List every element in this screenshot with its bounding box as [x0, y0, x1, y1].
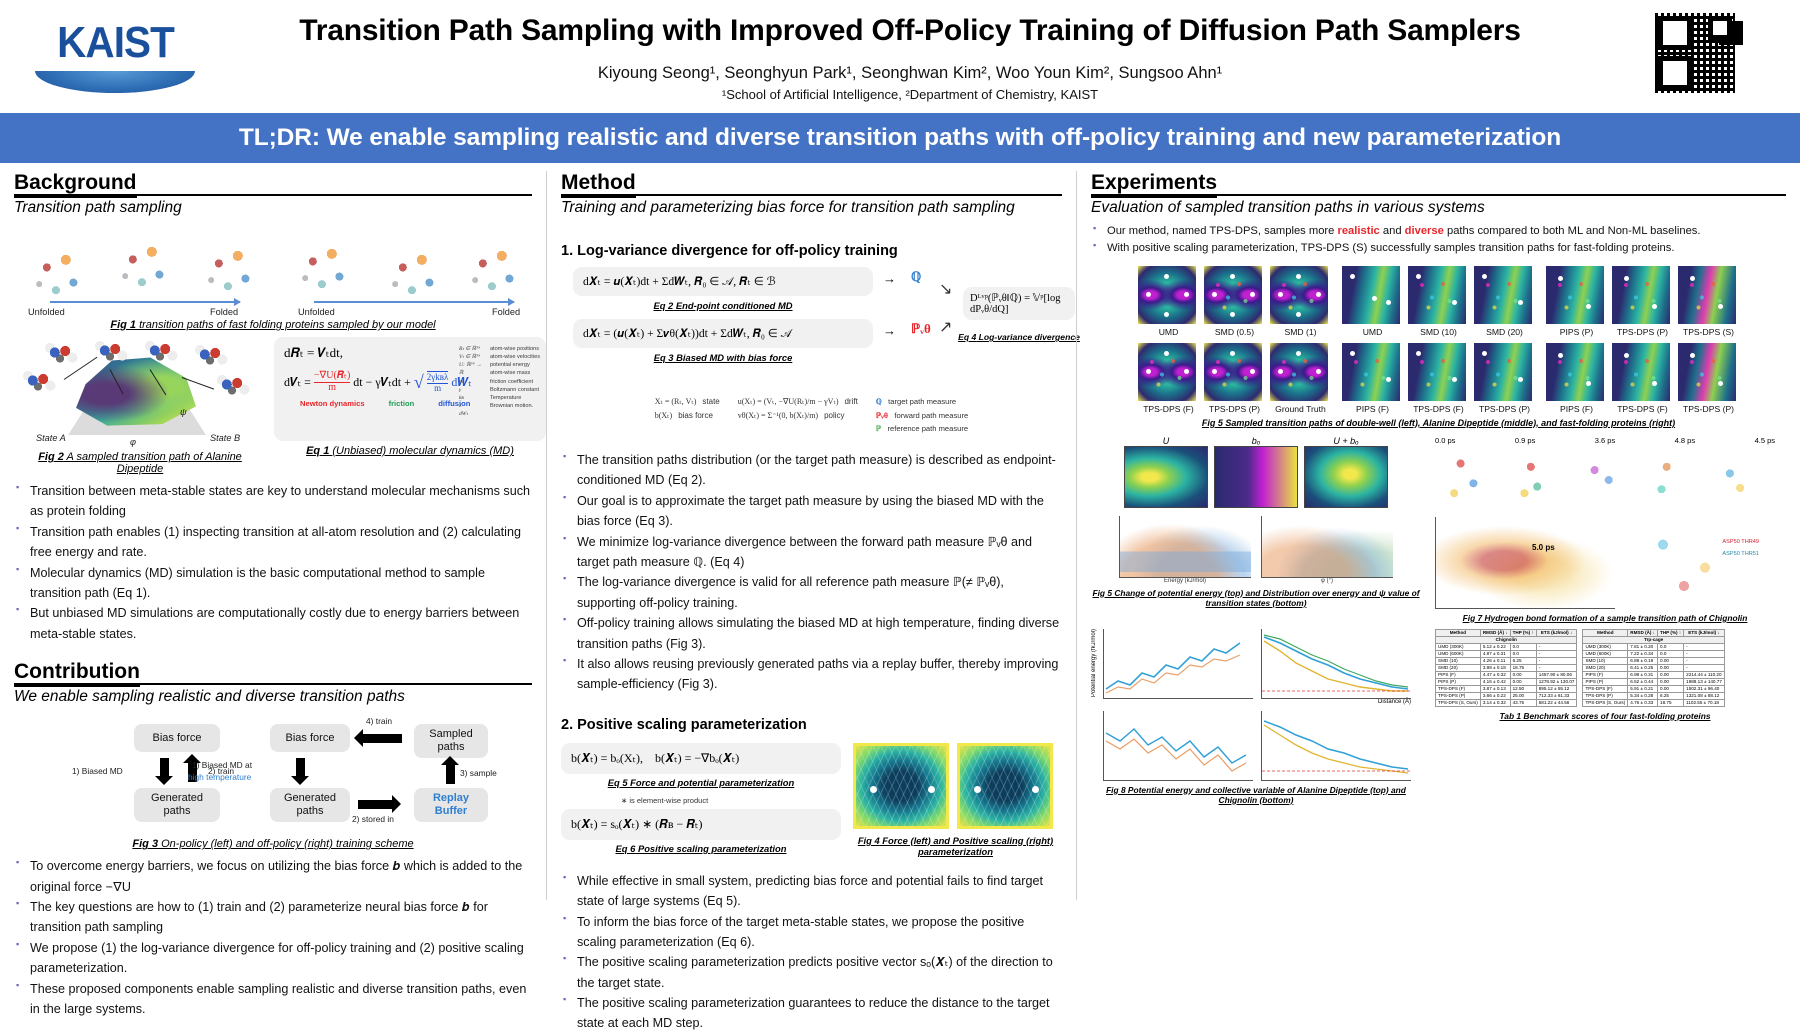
tile-label: PIPS (F) — [1342, 404, 1404, 414]
cell: TPS-DPS (F) — [1583, 685, 1628, 692]
cell: SMD (20) — [1436, 664, 1481, 671]
cell: 4.87 ± 0.31 — [1480, 650, 1510, 657]
cell: TPS-DPS (S, Ours) — [1583, 699, 1628, 706]
protein-structure — [1569, 447, 1633, 513]
tile-cell: TPS-DPS (P) — [1612, 266, 1674, 337]
equations-5-6-wrap: b(𝑿ₜ) = bₒ(Xₜ), b(𝑿ₜ) = −∇bₒ(𝑿ₜ) Eq 5 Fo… — [561, 743, 841, 857]
tile-row-2: TPS-DPS (F) TPS-DPS (P) Ground Truth — [1138, 343, 1332, 414]
timestamp-label: 0.9 ps — [1515, 436, 1535, 445]
figure-6-histograms: Energy (kJ/mol) φ (°) — [1091, 516, 1421, 584]
panel-U-plus-b: U + bₒ — [1304, 436, 1388, 508]
section-heading-contribution: Contribution — [14, 660, 140, 687]
poster-header: KAIST Transition Path Sampling with Impr… — [0, 0, 1800, 113]
legend-symbol: λ — [459, 402, 485, 410]
equation-2-box: d𝑿ₜ = 𝒖(𝑿ₜ)dt + Σd𝑾ₜ, 𝑹₀ ∈ 𝒜, 𝑹ₜ ∈ ℬ — [573, 267, 873, 296]
fig4-caption-text: Force (left) and Positive scaling (right… — [880, 835, 1053, 857]
histogram-energy: Energy (kJ/mol) — [1119, 516, 1251, 584]
notation-row: Xₜ = (Rₜ, Vₜ) state — [655, 395, 720, 409]
table-group-label: Trp-cage — [1583, 636, 1724, 643]
tab1-caption-bold: Tab 1 — [1500, 711, 1522, 721]
section-subtitle-method: Training and parameterizing bias force f… — [561, 199, 1062, 217]
logo-swoosh-icon — [35, 71, 195, 93]
arrow-head-up — [441, 756, 459, 765]
cell: 4.76 ± 0.33 — [1628, 699, 1658, 706]
cell: 7.22 ± 0.34 — [1628, 650, 1658, 657]
notation-row: vθ(Xₜ) = Σ⁻¹(0, b(Xₜ)/m) policy — [738, 409, 858, 423]
eq4-caption-text: Log-variance divergence — [976, 332, 1080, 342]
tile-cell: TPS-DPS (P) — [1678, 343, 1740, 414]
tile-cell: SMD (0.5) — [1204, 266, 1266, 337]
density-plot — [1119, 516, 1251, 578]
node-replay-buffer: Replay Buffer — [414, 788, 488, 822]
cell: TPS-DPS (P) — [1583, 692, 1628, 699]
legend-symbol: m — [459, 378, 485, 386]
eq1-label-newton: Newton dynamics — [300, 399, 365, 408]
cell: 6.25 — [1658, 692, 1684, 699]
eq1-denominator: m — [314, 383, 350, 394]
figure-7-structures — [1435, 447, 1775, 513]
tile-label: SMD (20) — [1474, 327, 1536, 337]
method-subsection-2-heading: 2. Positive scaling parameterization — [561, 717, 1062, 733]
legend-desc: Temperature — [490, 394, 540, 402]
notation-group-measures: ℚ target path measure ℙᵥθ forward path m… — [876, 395, 968, 436]
table-row: UMD (600K)7.22 ± 0.340.0- — [1583, 650, 1724, 657]
eq1-fraction: −∇U(𝑹ₜ) m — [314, 371, 350, 393]
list-item: Our method, named TPS-DPS, samples more … — [1091, 223, 1786, 240]
unfolded-folded-arrow — [314, 301, 514, 303]
double-well-plot — [1270, 343, 1328, 401]
figure-5-tile-grid: UMD SMD (0.5) SMD (1) TPS-DPS (F) TPS-DP… — [1091, 266, 1786, 414]
fig8-caption-bold: Fig 8 — [1106, 785, 1126, 795]
tile-cell: TPS-DPS (P) — [1204, 343, 1266, 414]
tile-label: TPS-DPS (P) — [1612, 327, 1674, 337]
notation-row: u(Xₜ) = (Vₜ, −∇U(Rₜ)/m − γVₜ) drift — [738, 395, 858, 409]
fig1-label-unfolded: Unfolded — [298, 307, 335, 317]
notation-symbol: b(Xₜ) — [655, 411, 672, 420]
arrow-down-right — [296, 758, 305, 778]
protein-path-plot — [1612, 343, 1670, 401]
cell: - — [1684, 650, 1725, 657]
eq5-part-b: b(𝑿ₜ) = −∇bₒ(𝑿ₜ) — [655, 751, 739, 765]
unfolded-folded-arrow — [50, 301, 240, 303]
measure-row: ℙᵥθ forward path measure — [876, 409, 968, 423]
background-section: Background Transition path sampling Unfo… — [14, 171, 532, 644]
cell: 712.33 ± 61.33 — [1536, 692, 1577, 699]
table-row: UMD (600K)4.87 ± 0.310.0- — [1436, 650, 1577, 657]
dipeptide-molecule — [42, 339, 82, 369]
eq1-numerator: −∇U(𝑹ₜ) — [314, 371, 350, 383]
qr-code-icon[interactable] — [1652, 10, 1738, 96]
tile-row-1: UMD SMD (0.5) SMD (1) — [1138, 266, 1332, 337]
tile-label: TPS-DPS (P) — [1204, 404, 1266, 414]
legend-label: ASP50 THR51 — [1722, 551, 1759, 557]
notation-desc: bias force — [678, 411, 713, 420]
cell: SMD (10) — [1583, 657, 1628, 664]
measure-symbol: ℙᵥθ — [876, 411, 888, 420]
cell: 6.41 ± 0.25 — [1628, 664, 1658, 671]
notation-group-drift: u(Xₜ) = (Vₜ, −∇U(Rₜ)/m − γVₜ) drift vθ(X… — [738, 395, 858, 436]
eq3-caption-text: Biased MD with bias force — [674, 352, 793, 363]
flow-label-biased-md-left: 1) Biased MD — [72, 766, 123, 776]
contact-density-map: 5.0 ps — [1435, 517, 1615, 609]
cell: - — [1536, 664, 1577, 671]
ramachandran-plot — [1342, 343, 1400, 401]
cell: 5.34 ± 0.28 — [1628, 692, 1658, 699]
table-row: TPS-DPS (S, Ours)3.14 ± 0.3243.75581.22 … — [1436, 699, 1577, 706]
cell: - — [1684, 664, 1725, 671]
fig1-label-unfolded: Unfolded — [28, 307, 65, 317]
eq1-label-friction: friction — [389, 399, 415, 408]
logo-text: KAIST — [57, 21, 174, 65]
eq1-caption-text: (Unbiased) molecular dynamics (MD) — [329, 445, 514, 457]
cell: 0.00 — [1510, 678, 1536, 685]
annotation-time: 5.0 ps — [1532, 543, 1555, 552]
cell: PIPS (F) — [1583, 671, 1628, 678]
notation-symbol: vθ(Xₜ) = Σ⁻¹(0, b(Xₜ)/m) — [738, 411, 818, 420]
double-well-plot — [1138, 343, 1196, 401]
cell: 7.81 ± 0.20 — [1628, 643, 1658, 650]
contribution-section: Contribution We enable sampling realisti… — [14, 660, 532, 1019]
equation-5-caption: Eq 5 Force and potential parameterizatio… — [561, 777, 841, 788]
fig7-caption-bold: Fig 7 — [1463, 613, 1483, 623]
cell: SMD (20) — [1583, 664, 1628, 671]
arrow-to-measure-p: → — [883, 323, 896, 339]
tile-row-2: PIPS (F) TPS-DPS (F) TPS-DPS (P) — [1342, 343, 1536, 414]
figure-8-top-charts: Potential energy (fkJ/mol) — [1091, 629, 1421, 705]
tile-cell: UMD — [1138, 266, 1200, 337]
eq1-sqrt-fraction: 2γkʙλ m — [427, 371, 449, 393]
cell: 0.0 — [1510, 643, 1536, 650]
cell: 0.00 — [1510, 671, 1536, 678]
cell: 0.00 — [1658, 685, 1684, 692]
method-bullets-1: The transition paths distribution (or th… — [561, 450, 1062, 695]
tile-row-1: UMD SMD (10) SMD (20) — [1342, 266, 1536, 337]
kaist-logo: KAIST — [0, 0, 230, 100]
eq1-caption-bold: Eq 1 — [306, 445, 329, 457]
cell: 1988.13 ± 140.77 — [1684, 678, 1725, 685]
cell: 18.75 — [1658, 699, 1684, 706]
eq3-caption-bold: Eq 3 — [654, 352, 674, 363]
flow-label-biased-md-right: 1) Biased MD at — [192, 760, 252, 770]
panel-label: bₒ — [1214, 436, 1298, 446]
panel-U: U — [1124, 436, 1208, 508]
notation-desc: policy — [824, 411, 844, 420]
cell: 5.91 ± 0.21 — [1628, 685, 1658, 692]
eq1-legend-symbols: Rₜ ∈ ℝ³ᴺ Vₜ ∈ ℝ³ᴺ U: ℝ³ᴺ → ℝ m γ kʙ λ dW… — [459, 345, 485, 418]
tile-cell: TPS-DPS (F) — [1408, 343, 1470, 414]
cell: UMD (300K) — [1583, 643, 1628, 650]
cell: 3.87 ± 0.13 — [1480, 685, 1510, 692]
cell: TPS-DPS (F) — [1436, 685, 1481, 692]
density-plot — [1261, 516, 1393, 578]
dipeptide-molecule — [20, 367, 60, 397]
authors-line: Kiyoung Seong¹, Seonghyun Park¹, Seonghw… — [230, 64, 1590, 83]
eq1-sqrt-denominator: m — [427, 384, 449, 393]
cell: 18.75 — [1510, 664, 1536, 671]
tile-cell: SMD (1) — [1270, 266, 1332, 337]
figure-5-double-well-group: UMD SMD (0.5) SMD (1) TPS-DPS (F) TPS-DP… — [1138, 266, 1332, 414]
table-row: SMD (20)6.41 ± 0.250.00- — [1583, 664, 1724, 671]
tile-label: TPS-DPS (P) — [1678, 404, 1740, 414]
figure-3-caption-text: On-policy (left) and off-policy (right) … — [158, 838, 414, 850]
figure-4-panels — [853, 743, 1058, 829]
section-heading-experiments: Experiments — [1091, 171, 1217, 198]
double-well-plot — [1270, 266, 1328, 324]
dipeptide-molecule — [142, 337, 182, 367]
table-row: TPS-DPS (S, Ours)4.76 ± 0.3318.751102.55… — [1583, 699, 1724, 706]
experiments-bullets: Our method, named TPS-DPS, samples more … — [1091, 223, 1786, 258]
dipeptide-molecule — [92, 337, 132, 367]
cell: 6.25 — [1510, 657, 1536, 664]
table-row: PIPS (F)6.98 ± 0.310.002214.44 ± 110.20 — [1583, 671, 1724, 678]
cell: 2214.44 ± 110.20 — [1684, 671, 1725, 678]
tile-label: SMD (0.5) — [1204, 327, 1266, 337]
figure-7-timestamps: 0.0 ps 0.9 ps 3.6 ps 4.8 ps 4.5 ps — [1435, 436, 1775, 445]
eq5-caption-text: Force and potential parameterization — [628, 777, 795, 788]
figure-8-caption: Fig 8 Potential energy and collective va… — [1091, 785, 1421, 805]
method-bullets-2: While effective in small system, predict… — [561, 871, 1062, 1034]
fig4-caption-bold: Fig 4 — [858, 835, 880, 846]
eq4-caption-bold: Eq 4 — [958, 332, 976, 342]
line-chart — [1261, 629, 1411, 699]
cell: 6.52 ± 0.44 — [1628, 678, 1658, 685]
eq1-lhs: d𝑽ₜ = — [284, 375, 311, 390]
table-row: TPS-DPS (F)3.87 ± 0.1312.50895.12 ± 55.1… — [1436, 685, 1577, 692]
list-item: While effective in small system, predict… — [561, 871, 1062, 912]
benchmark-table-chignolin: Method RMSD (Å) ↓ THP (%) ↑ ETS (kJ/mol)… — [1435, 629, 1577, 707]
panel-label: U — [1124, 436, 1208, 446]
line-chart-chignolin-energy — [1103, 711, 1253, 781]
table-body: UMD (300K)7.81 ± 0.200.0- UMD (600K)7.22… — [1583, 643, 1724, 706]
cell: 1102.55 ± 70.18 — [1684, 699, 1725, 706]
section-heading-background: Background — [14, 171, 137, 198]
cell: 3.14 ± 0.32 — [1480, 699, 1510, 706]
figure-7-contact-map-row: 5.0 ps ASP50 THR49 ASP50 THR51 — [1435, 517, 1775, 609]
cell: 12.50 — [1510, 685, 1536, 692]
table-row: TPS-DPS (P)5.34 ± 0.286.251321.08 ± 88.1… — [1583, 692, 1724, 699]
tile-label: Ground Truth — [1270, 404, 1332, 414]
figure-1-protein-paths: Unfolded Folded Unfolded Folded — [14, 223, 532, 315]
protein-structure — [1502, 447, 1566, 513]
cell: 6.98 ± 0.31 — [1628, 671, 1658, 678]
tile-cell: SMD (10) — [1408, 266, 1470, 337]
list-item: But unbiased MD simulations are computat… — [14, 603, 532, 644]
cell: 0.00 — [1658, 664, 1684, 671]
tile-cell: PIPS (F) — [1342, 343, 1404, 414]
equation-5-box: b(𝑿ₜ) = bₒ(Xₜ), b(𝑿ₜ) = −∇bₒ(𝑿ₜ) — [561, 743, 841, 774]
protein-molecule — [110, 229, 186, 305]
node-bias-force-left: Bias force — [134, 724, 220, 752]
eq6-note: ∗ is element-wise product — [621, 796, 841, 805]
tile-cell: Ground Truth — [1270, 343, 1332, 414]
eq2-caption-text: End-point conditioned MD — [673, 300, 792, 311]
flow-label-train-right: 4) train — [366, 716, 392, 726]
cell: - — [1684, 657, 1725, 664]
tile-label: UMD — [1342, 327, 1404, 337]
line-series — [1262, 711, 1411, 781]
cell: PIPS (P) — [1436, 678, 1481, 685]
figure-1-caption-bold: Fig 1 — [110, 319, 136, 331]
tile-label: SMD (10) — [1408, 327, 1470, 337]
bullet-mid: and — [1380, 225, 1405, 237]
protein-molecule — [290, 231, 366, 307]
table-header-cell: THP (%) ↑ — [1658, 629, 1684, 636]
tile-cell: PIPS (F) — [1546, 343, 1608, 414]
fig1-label-folded: Folded — [210, 307, 238, 317]
fig1-label-folded: Folded — [492, 307, 520, 317]
section-subtitle-contribution: We enable sampling realistic and diverse… — [14, 688, 532, 706]
measure-row: ℚ target path measure — [876, 395, 968, 409]
legend-desc: potential energy — [490, 361, 540, 369]
equation-4-caption: Eq 4 Log-variance divergence — [957, 332, 1081, 342]
chart-distance-alanine: Distance (Å) — [1261, 629, 1411, 705]
protein-path-plot — [1612, 266, 1670, 324]
figure-2-wrap: State A State B φ ψ Fig 2 A sampled tran… — [14, 337, 266, 475]
figure-3-caption: Fig 3 On-policy (left) and off-policy (r… — [14, 838, 532, 850]
state-marker — [870, 786, 877, 793]
cell: TPS-DPS (S, Ours) — [1436, 699, 1481, 706]
figure-1-caption-text: transition paths of fast folding protein… — [136, 319, 436, 331]
cell: 0.0 — [1658, 650, 1684, 657]
cell: TPS-DPS (P) — [1436, 692, 1481, 699]
line-chart-chignolin-distance — [1261, 711, 1411, 781]
qr-code-wrap[interactable] — [1590, 0, 1800, 96]
measure-q-symbol: ℚ — [911, 269, 921, 285]
bullet-post: paths compared to both ML and Non-ML bas… — [1444, 225, 1701, 237]
equation-1-box: d𝑹ₜ = 𝑽ₜdt, d𝑽ₜ = −∇U(𝑹ₜ) m dt − γ𝑽ₜdt +… — [274, 337, 546, 441]
panel-b-theta: bₒ — [1214, 436, 1298, 508]
table-header-cell: ETS (kJ/mol) ↓ — [1684, 629, 1725, 636]
ramachandran-plot — [1474, 266, 1532, 324]
cell: UMD (300K) — [1436, 643, 1481, 650]
tile-label: TPS-DPS (F) — [1612, 404, 1674, 414]
table-row: SMD (10)4.26 ± 0.116.25- — [1436, 657, 1577, 664]
tile-cell: TPS-DPS (F) — [1138, 343, 1200, 414]
protein-structure-large: ASP50 THR49 ASP50 THR51 — [1621, 517, 1761, 609]
notation-symbol: Xₜ = (Rₜ, Vₜ) — [655, 397, 697, 406]
fig7-caption-text: Hydrogen bond formation of a sample tran… — [1482, 613, 1747, 623]
cell: UMD (600K) — [1436, 650, 1481, 657]
state-marker — [974, 786, 981, 793]
table-body: UMD (300K)5.12 ± 0.220.0- UMD (600K)4.87… — [1436, 643, 1577, 706]
figure-5-protein-group: PIPS (P) TPS-DPS (P) TPS-DPS (S) PIPS (F… — [1546, 266, 1740, 414]
figure-2-alanine-dipeptide: State A State B φ ψ — [14, 337, 266, 449]
fig2-state-a-label: State A — [36, 433, 66, 443]
tile-label: TPS-DPS (F) — [1138, 404, 1200, 414]
double-well-plot — [1204, 266, 1262, 324]
figure-6-panels: U bₒ U + bₒ — [1091, 436, 1421, 508]
list-item: Transition path enables (1) inspecting t… — [14, 522, 532, 563]
table-row: UMD (300K)5.12 ± 0.220.0- — [1436, 643, 1577, 650]
arrow-to-measure-q: → — [883, 271, 896, 287]
legend-desc: Boltzmann constant — [490, 386, 540, 394]
timestamp-label: 3.6 ps — [1595, 436, 1615, 445]
fig8-caption-text: Potential energy and collective variable… — [1126, 785, 1406, 805]
dipeptide-molecule — [214, 371, 254, 401]
table-group-label: Chignolin — [1436, 636, 1577, 643]
legend-desc: atom-wise velocities — [490, 353, 540, 361]
ramachandran-plot — [1342, 266, 1400, 324]
legend-desc: atom-wise positions — [490, 345, 540, 353]
table-1-wrap: Method RMSD (Å) ↓ THP (%) ↑ ETS (kJ/mol)… — [1435, 629, 1775, 805]
cell: 0.00 — [1658, 678, 1684, 685]
cell: PIPS (F) — [1436, 671, 1481, 678]
cell: 25.00 — [1510, 692, 1536, 699]
node-generated-paths-right: Generated paths — [270, 788, 350, 822]
axis-label-y2: Distance (Å) — [1261, 699, 1411, 705]
list-item: The positive scaling parameterization pr… — [561, 952, 1062, 993]
table-row: TPS-DPS (F)5.91 ± 0.210.001502.31 ± 96.4… — [1583, 685, 1724, 692]
eq5-caption-bold: Eq 5 — [608, 777, 628, 788]
cell: 6.88 ± 0.19 — [1628, 657, 1658, 664]
tab1-caption-text: Benchmark scores of four fast-folding pr… — [1521, 711, 1710, 721]
tile-label: PIPS (P) — [1546, 327, 1608, 337]
table-row: SMD (10)6.88 ± 0.190.00- — [1583, 657, 1724, 664]
figure2-eq1-row: State A State B φ ψ Fig 2 A sampled tran… — [14, 337, 532, 475]
cell: 4.16 ± 0.42 — [1480, 678, 1510, 685]
state-marker — [928, 786, 935, 793]
arrow-left-train — [362, 734, 402, 743]
cell: 581.22 ± 44.56 — [1536, 699, 1577, 706]
table-group-row: Chignolin — [1436, 636, 1577, 643]
equation-3-caption: Eq 3 Biased MD with bias force — [583, 352, 863, 363]
line-series — [1262, 629, 1411, 699]
tile-label: TPS-DPS (S) — [1678, 327, 1740, 337]
protein-structure — [1435, 447, 1499, 513]
list-item: To inform the bias force of the target m… — [561, 912, 1062, 953]
fig2-psi-axis-label: ψ — [180, 407, 187, 417]
legend-symbol: kʙ — [459, 394, 485, 402]
section-subtitle-background: Transition path sampling — [14, 199, 532, 217]
arrow-head-right — [392, 795, 401, 813]
figure-2-caption-text: A sampled transition path of Alanine Dip… — [64, 451, 242, 475]
figure-3-caption-bold: Fig 3 — [132, 838, 158, 850]
cell: 1502.31 ± 96.40 — [1684, 685, 1725, 692]
background-bullets: Transition between meta-stable states ar… — [14, 481, 532, 644]
equation-6-box: b(𝑿ₜ) = sₒ(𝑿ₜ) ∗ (𝑹ʙ − 𝑹ₜ) — [561, 809, 841, 840]
list-item: We propose (1) the log-variance divergen… — [14, 938, 532, 979]
figure-4-wrap: Fig 4 Force (left) and Positive scaling … — [853, 743, 1058, 857]
table-group-row: Trp-cage — [1583, 636, 1724, 643]
measure-pv-symbol: ℙᵥθ — [911, 321, 931, 337]
timestamp-label: 4.8 ps — [1675, 436, 1695, 445]
figure-8-table-row: Potential energy (fkJ/mol) — [1091, 629, 1786, 805]
arrow-up-sample — [446, 764, 455, 784]
arrow-head-left — [354, 729, 363, 747]
legend-desc: atom-wise mass — [490, 369, 540, 377]
eq2-caption-bold: Eq 2 — [653, 300, 673, 311]
ramachandran-plot — [1474, 343, 1532, 401]
cell: SMD (10) — [1436, 657, 1481, 664]
table-header-row: Method RMSD (Å) ↓ THP (%) ↑ ETS (kJ/mol)… — [1583, 629, 1724, 636]
bullet-pre: Our method, named TPS-DPS, samples more — [1107, 225, 1337, 237]
protein-path-plot — [1546, 343, 1604, 401]
table-header-row: Method RMSD (Å) ↓ THP (%) ↑ ETS (kJ/mol)… — [1436, 629, 1577, 636]
legend-desc: Brownian motion. — [490, 402, 540, 410]
table-1-caption: Tab 1 Benchmark scores of four fast-fold… — [1435, 711, 1775, 721]
legend-label: ASP50 THR49 — [1722, 539, 1759, 545]
protein-path-plot — [1678, 266, 1736, 324]
cell: 4.26 ± 0.11 — [1480, 657, 1510, 664]
eq1-middle: dt − γ𝑽ₜdt + — [353, 375, 411, 390]
fig6-caption-bold: Fig 5 — [1092, 588, 1112, 598]
poster-columns: Background Transition path sampling Unfo… — [0, 163, 1800, 900]
table-row: TPS-DPS (P)3.66 ± 0.2225.00712.33 ± 61.3… — [1436, 692, 1577, 699]
table-header-cell: Method — [1583, 629, 1628, 636]
tile-cell: PIPS (P) — [1546, 266, 1608, 337]
list-item: Off-policy training allows simulating th… — [561, 613, 1062, 654]
line-chart — [1103, 629, 1253, 699]
